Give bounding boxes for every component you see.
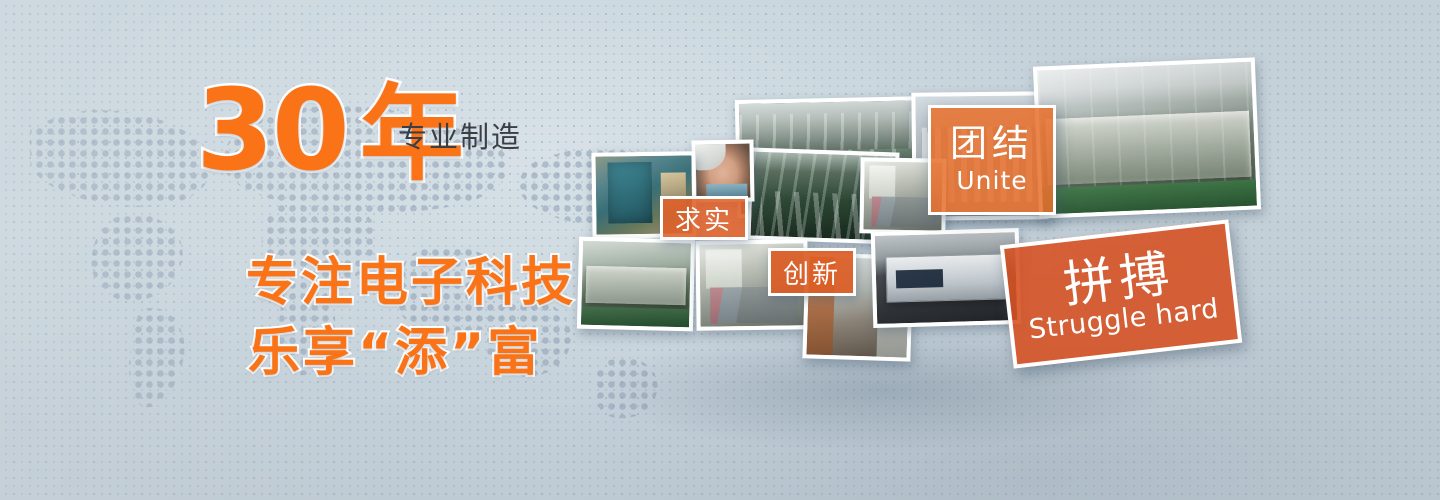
slogan-card-struggle[interactable]: 拼搏 Struggle hard [1000, 219, 1243, 368]
photo-instrument [871, 228, 1022, 328]
subheading-line-2: 乐享“添”富 [248, 310, 542, 385]
headline-copy-block: 30 年 专业制造 专注电子科技 乐享“添”富 [0, 0, 620, 500]
photo-smt-green [577, 237, 695, 332]
years-number: 30 [196, 78, 348, 186]
slogan-card-unite[interactable]: 团结 Unite [928, 105, 1056, 215]
slogan-card-unite-en: Unite [956, 166, 1027, 195]
subheading-line-1: 专注电子科技 [246, 240, 576, 315]
slogan-tag-qiushi-label: 求实 [675, 200, 733, 237]
hero-banner: 30 年 专业制造 专注电子科技 乐享“添”富 [0, 0, 1440, 500]
photo-collage: 求实 创新 团结 Unite 拼搏 Struggle hard [560, 0, 1440, 500]
slogan-tag-qiushi[interactable]: 求实 [660, 196, 748, 240]
slogan-card-unite-cn: 团结 [950, 125, 1034, 164]
photo-worker-face [691, 139, 754, 202]
photo-smt-big [1033, 57, 1261, 218]
slogan-tag-chuangxin-label: 创新 [783, 254, 841, 291]
tagline-professional-manufacturing: 专业制造 [398, 114, 522, 156]
slogan-tag-chuangxin[interactable]: 创新 [768, 248, 856, 296]
